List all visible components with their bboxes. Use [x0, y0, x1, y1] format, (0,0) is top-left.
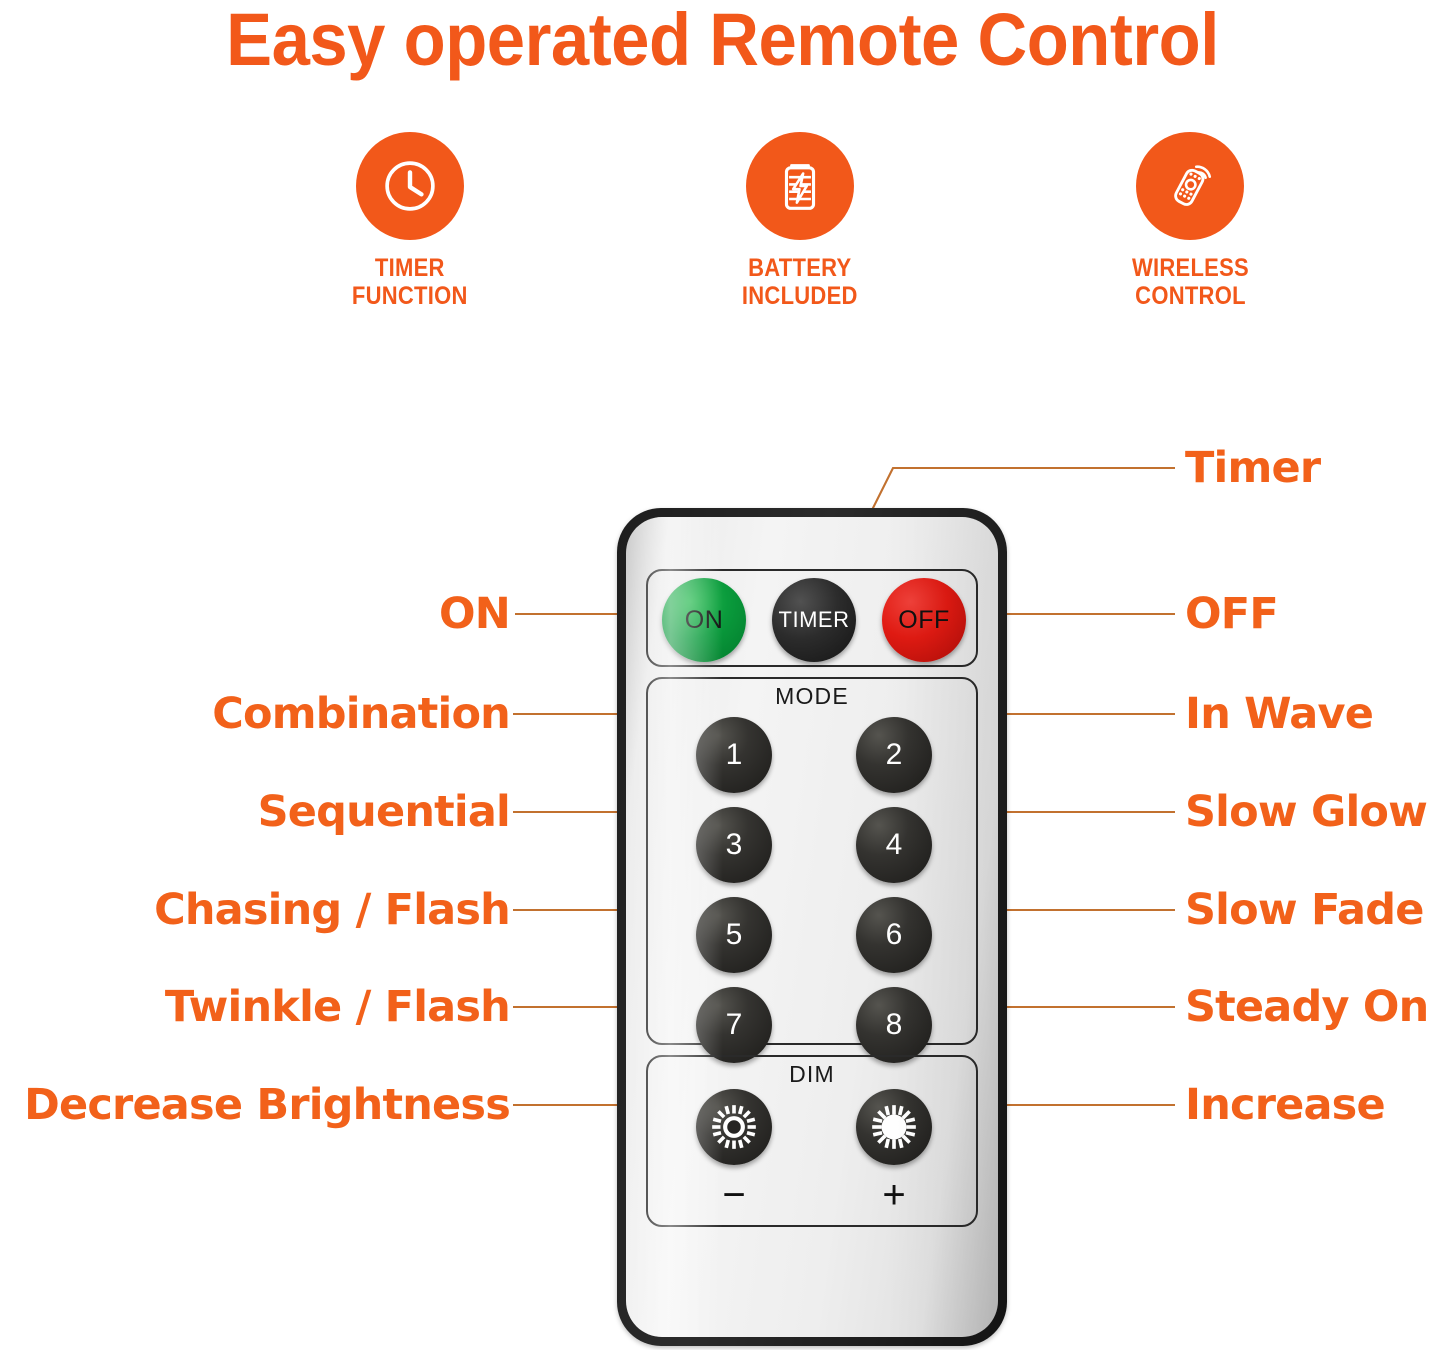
button-timer[interactable]: TIMER — [772, 578, 856, 662]
sun-dim-icon — [708, 1101, 760, 1153]
callout-increase: Increase — [1185, 1081, 1385, 1129]
feature-battery-included: BATTERY INCLUDED — [690, 132, 910, 310]
remote-face: ON TIMER OFF MODE 1 2 3 4 5 6 7 8 DIM — [626, 517, 998, 1337]
button-dim-decrease[interactable] — [696, 1089, 772, 1165]
feature-wireless-control: WIRELESS CONTROL — [1080, 132, 1300, 310]
feature-timer-function: TIMER FUNCTION — [300, 132, 520, 310]
callout-off: OFF — [1185, 590, 1278, 638]
callout-on: ON — [439, 590, 510, 638]
button-mode-4[interactable]: 4 — [856, 807, 932, 883]
button-mode-8[interactable]: 8 — [856, 987, 932, 1063]
button-off[interactable]: OFF — [882, 578, 966, 662]
clock-icon — [356, 132, 464, 240]
callout-combination: Combination — [212, 690, 510, 738]
page-title: Easy operated Remote Control — [51, 0, 1395, 80]
button-mode-6[interactable]: 6 — [856, 897, 932, 973]
button-mode-7[interactable]: 7 — [696, 987, 772, 1063]
feature-label-wireless: WIRELESS CONTROL — [1131, 254, 1248, 310]
callout-steady-on: Steady On — [1185, 983, 1428, 1031]
callout-decrease-brightness: Decrease Brightness — [24, 1081, 510, 1129]
sun-bright-icon — [868, 1101, 920, 1153]
remote-signal-icon — [1136, 132, 1244, 240]
callout-chasing-flash: Chasing / Flash — [154, 886, 510, 934]
button-dim-increase[interactable] — [856, 1089, 932, 1165]
dim-decrease-sign: − — [696, 1175, 772, 1215]
feature-label-battery: BATTERY INCLUDED — [742, 254, 858, 310]
callout-in-wave: In Wave — [1185, 690, 1373, 738]
battery-bolt-icon — [746, 132, 854, 240]
button-mode-3[interactable]: 3 — [696, 807, 772, 883]
button-mode-1[interactable]: 1 — [696, 717, 772, 793]
feature-label-timer: TIMER FUNCTION — [352, 254, 468, 310]
button-mode-5[interactable]: 5 — [696, 897, 772, 973]
button-on[interactable]: ON — [662, 578, 746, 662]
mode-panel-title: MODE — [648, 683, 976, 710]
callout-slow-fade: Slow Fade — [1185, 886, 1424, 934]
dim-panel: DIM — [646, 1055, 978, 1227]
feature-badges-row: TIMER FUNCTION BATTERY INCLUDED — [300, 132, 1300, 310]
remote-control-device: ON TIMER OFF MODE 1 2 3 4 5 6 7 8 DIM — [617, 508, 1007, 1346]
callout-timer: Timer — [1185, 444, 1320, 492]
mode-panel: MODE 1 2 3 4 5 6 7 8 — [646, 677, 978, 1045]
callout-slow-glow: Slow Glow — [1185, 788, 1427, 836]
dim-panel-title: DIM — [648, 1061, 976, 1088]
callout-twinkle-flash: Twinkle / Flash — [165, 983, 510, 1031]
button-mode-2[interactable]: 2 — [856, 717, 932, 793]
dim-increase-sign: + — [856, 1175, 932, 1215]
callout-sequential: Sequential — [258, 788, 510, 836]
power-panel: ON TIMER OFF — [646, 569, 978, 667]
